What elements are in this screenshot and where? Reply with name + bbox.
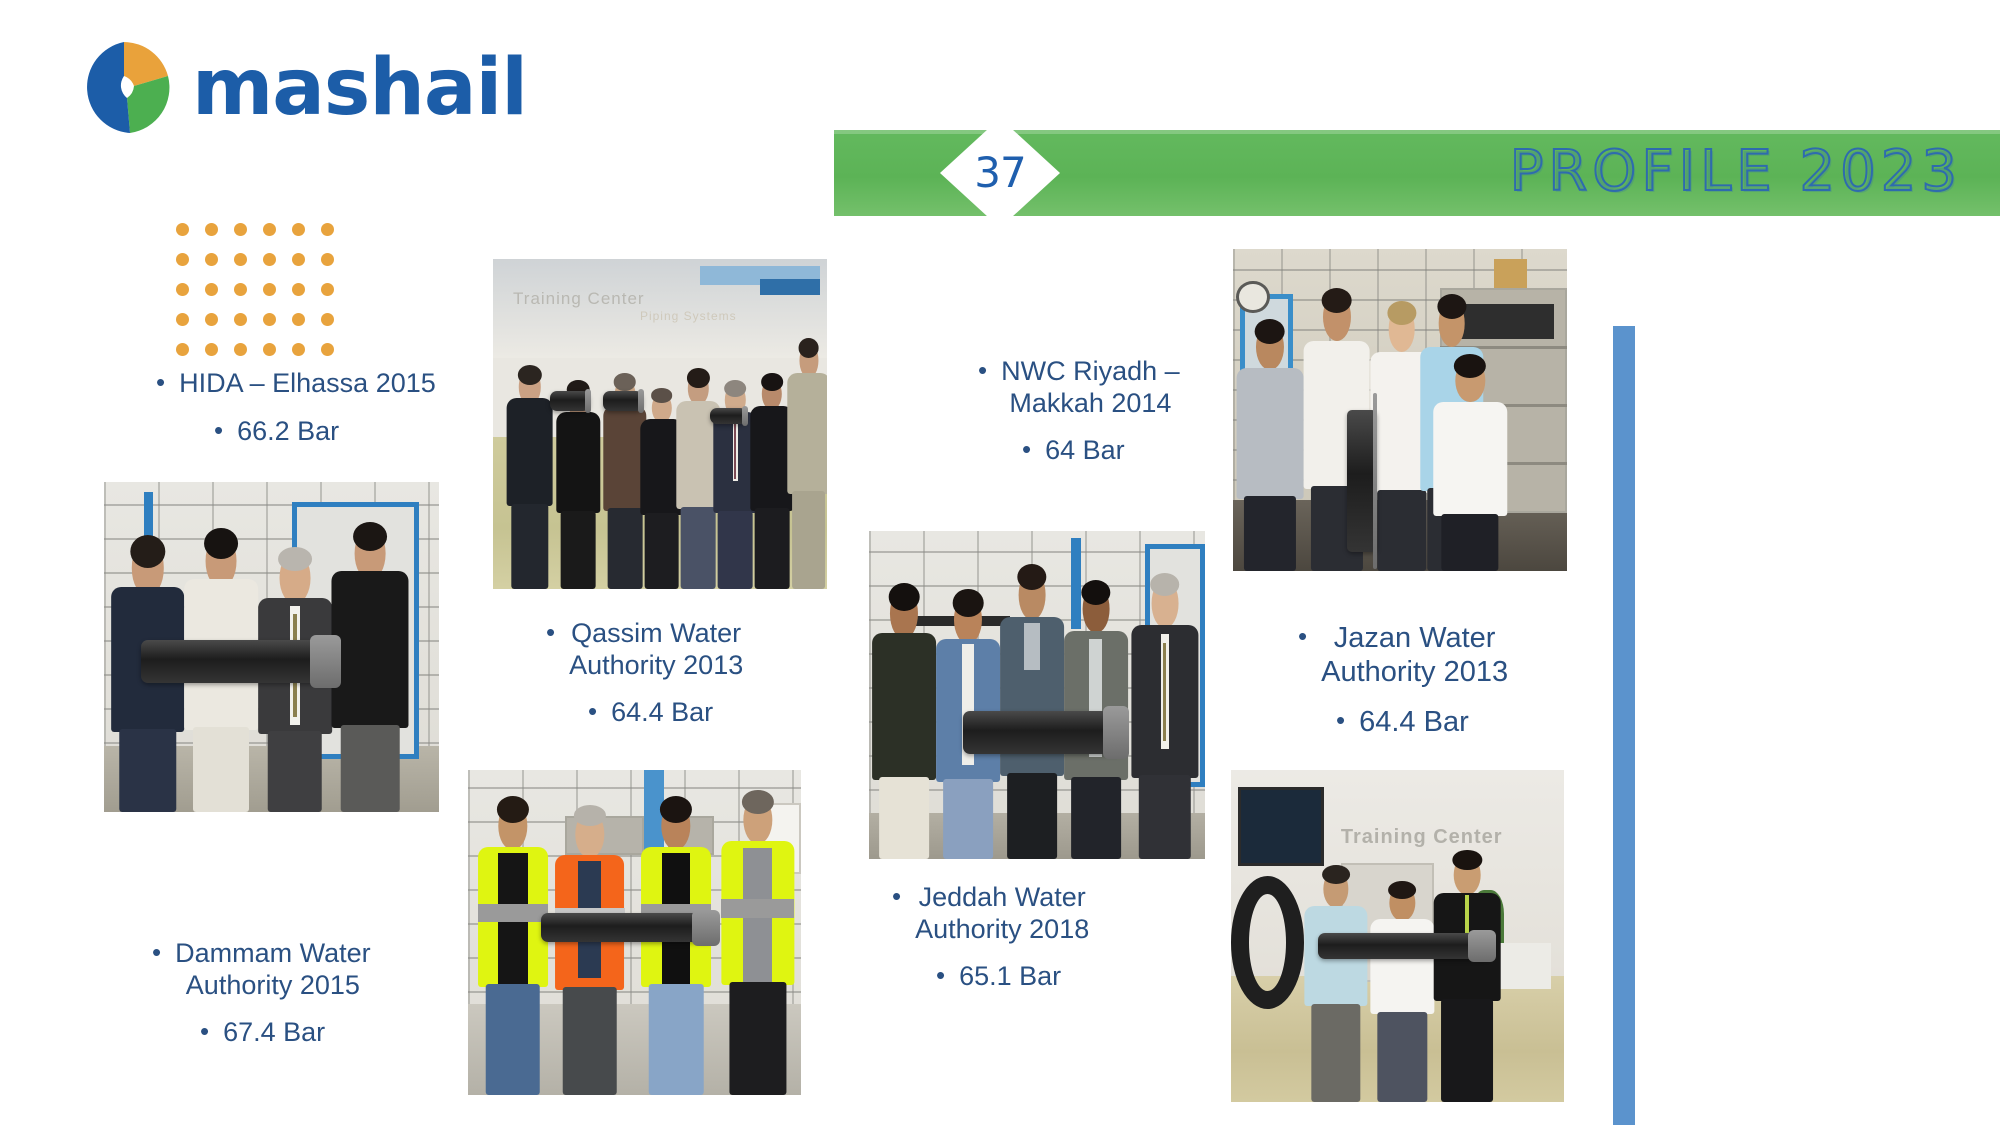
training-center-signage-2: Training Center [1341, 826, 1503, 849]
bullet-icon: • [200, 1016, 209, 1046]
dot-grid-dot [263, 253, 276, 266]
dot-grid-dot [292, 343, 305, 356]
dot-grid-dot [234, 313, 247, 326]
photo-jeddah-lab [869, 531, 1205, 859]
bullet-icon: • [152, 937, 161, 967]
dot-grid-dot [234, 343, 247, 356]
photo-bottom-vests [468, 770, 801, 1095]
right-accent-bar [1613, 326, 1635, 1125]
dot-grid-dot [321, 283, 334, 296]
caption-dammam-value-row: • 67.4 Bar [152, 1017, 452, 1049]
piping-systems-signage: Piping Systems [640, 309, 737, 323]
dot-grid-dot [321, 313, 334, 326]
dot-grid-dot [263, 223, 276, 236]
caption-hida-title-row: • HIDA – Elhassa 2015 [156, 368, 456, 400]
caption-jeddah-title: Jeddah Water Authority 2018 [915, 882, 1089, 945]
dot-grid-dot [205, 283, 218, 296]
slide-root: mashail PROFILE 2023 37 [0, 0, 2000, 1125]
caption-qassim-title-row: • Qassim Water Authority 2013 [546, 618, 846, 681]
dot-grid-dot [205, 253, 218, 266]
dot-grid-dot [176, 343, 189, 356]
dot-grid-decoration [176, 223, 336, 355]
caption-hida: • HIDA – Elhassa 2015 • 66.2 Bar [156, 368, 456, 447]
caption-dammam: • Dammam Water Authority 2015 • 67.4 Bar [152, 938, 452, 1049]
photo-dammam-lab [104, 482, 439, 812]
bullet-icon: • [214, 415, 223, 445]
dot-grid-dot [205, 313, 218, 326]
caption-jazan: • Jazan Water Authority 2013 • 64.4 Bar [1298, 622, 1598, 740]
bullet-icon: • [978, 355, 987, 385]
caption-dammam-title-row: • Dammam Water Authority 2015 [152, 938, 452, 1001]
caption-hida-title: HIDA – Elhassa 2015 [179, 368, 436, 400]
caption-dammam-value: 67.4 Bar [223, 1017, 325, 1049]
caption-hida-value-row: • 66.2 Bar [156, 416, 456, 448]
brand-wordmark: mashail [192, 49, 527, 127]
dot-grid-dot [176, 313, 189, 326]
caption-nwc-title-row: • NWC Riyadh – Makkah 2014 [978, 356, 1278, 419]
photo-jazan-workshop [1233, 249, 1567, 571]
caption-jazan-title: Jazan Water Authority 2013 [1321, 622, 1508, 690]
dot-grid-dot [234, 283, 247, 296]
caption-qassim-value-row: • 64.4 Bar [546, 697, 846, 729]
caption-jazan-title-row: • Jazan Water Authority 2013 [1298, 622, 1598, 690]
bullet-icon: • [1298, 621, 1307, 651]
dot-grid-dot [176, 223, 189, 236]
dot-grid-dot [321, 343, 334, 356]
bullet-icon: • [1336, 705, 1345, 735]
caption-hida-value: 66.2 Bar [237, 416, 339, 448]
bullet-icon: • [588, 696, 597, 726]
caption-jeddah-value: 65.1 Bar [959, 961, 1061, 993]
dot-grid-dot [292, 223, 305, 236]
photo-qassim-training: Training Center Piping Systems [493, 259, 827, 589]
bullet-icon: • [892, 881, 901, 911]
dot-grid-dot [321, 223, 334, 236]
dot-grid-dot [205, 343, 218, 356]
slide-number: 37 [974, 152, 1025, 194]
caption-nwc: • NWC Riyadh – Makkah 2014 • 64 Bar [978, 356, 1278, 467]
dot-grid-dot [263, 283, 276, 296]
banner-title: PROFILE 2023 [1510, 144, 1962, 200]
caption-dammam-title: Dammam Water Authority 2015 [175, 938, 371, 1001]
brand-logo: mashail [72, 36, 527, 140]
dot-grid-dot [292, 313, 305, 326]
photo-training-center: Training Center [1231, 770, 1564, 1102]
bullet-icon: • [1022, 434, 1031, 464]
dot-grid-dot [205, 223, 218, 236]
dot-grid-dot [292, 253, 305, 266]
caption-qassim-value: 64.4 Bar [611, 697, 713, 729]
caption-qassim-title: Qassim Water Authority 2013 [569, 618, 743, 681]
caption-jeddah-value-row: • 65.1 Bar [892, 961, 1192, 993]
bullet-icon: • [936, 960, 945, 990]
caption-qassim: • Qassim Water Authority 2013 • 64.4 Bar [546, 618, 846, 729]
training-center-signage: Training Center [513, 289, 645, 309]
caption-jazan-value-row: • 64.4 Bar [1298, 706, 1598, 740]
dot-grid-dot [263, 313, 276, 326]
dot-grid-dot [234, 223, 247, 236]
caption-nwc-value: 64 Bar [1045, 435, 1125, 467]
caption-jeddah-title-row: • Jeddah Water Authority 2018 [892, 882, 1192, 945]
dot-grid-dot [176, 283, 189, 296]
mashail-logo-icon [72, 36, 176, 140]
caption-jeddah: • Jeddah Water Authority 2018 • 65.1 Bar [892, 882, 1192, 993]
dot-grid-dot [176, 253, 189, 266]
dot-grid-dot [263, 343, 276, 356]
dot-grid-dot [234, 253, 247, 266]
caption-jazan-value: 64.4 Bar [1359, 706, 1469, 740]
bullet-icon: • [546, 617, 555, 647]
bullet-icon: • [156, 367, 165, 397]
caption-nwc-title: NWC Riyadh – Makkah 2014 [1001, 356, 1180, 419]
dot-grid-dot [321, 253, 334, 266]
dot-grid-dot [292, 283, 305, 296]
caption-nwc-value-row: • 64 Bar [978, 435, 1278, 467]
